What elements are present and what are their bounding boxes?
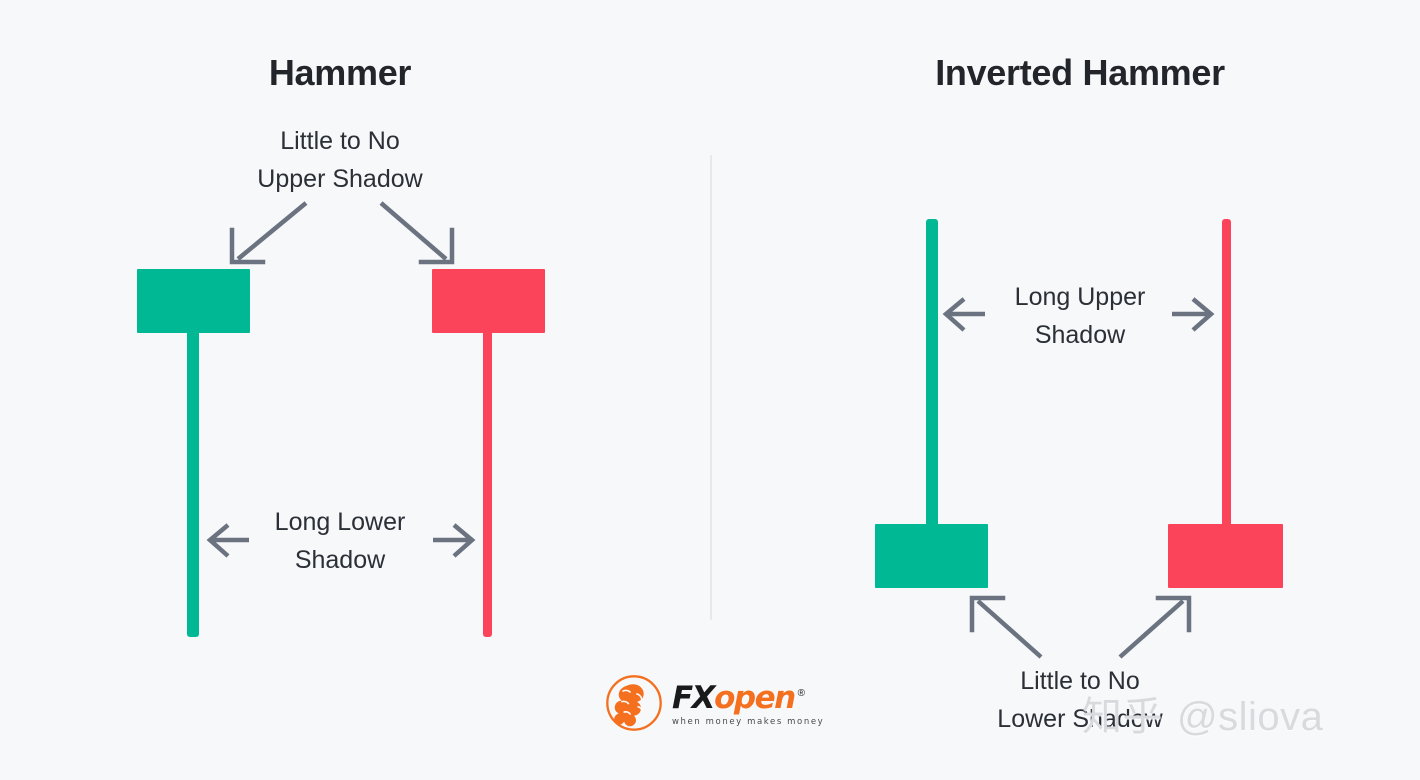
diagram-canvas: Hammer Inverted Hammer Little to No Uppe… (0, 0, 1420, 780)
annotation-long-lower-shadow: Long Lower Shadow (255, 503, 425, 579)
arrow-left-long-upper-shadow (946, 299, 985, 330)
page-title-inverted-hammer: Inverted Hammer (880, 52, 1280, 94)
fxopen-logo: FX open ® when money makes money (605, 672, 820, 734)
fxopen-dragon-emblem-icon (605, 674, 663, 732)
watermark: 知乎@sliova (1082, 684, 1323, 742)
logo-registered-mark: ® (798, 688, 805, 699)
watermark-site: 知乎 (1082, 694, 1163, 740)
candle-lower-shadow-bearish-hammer (483, 320, 492, 637)
annotation-little-to-no-upper-shadow: Little to No Upper Shadow (140, 122, 540, 198)
candle-upper-shadow-bullish-inverted (926, 219, 938, 539)
arrow-left-long-lower-shadow (210, 525, 249, 556)
page-title-hammer: Hammer (140, 52, 540, 94)
candle-body-bullish-inverted (875, 524, 988, 588)
fxopen-wordmark: FX open ® when money makes money (672, 674, 824, 732)
arrow-up-left-to-green-body (972, 598, 1041, 657)
candle-upper-shadow-bearish-inverted (1222, 219, 1231, 539)
arrow-down-right-to-red-body (381, 203, 452, 262)
candle-lower-shadow-bullish-hammer (187, 320, 199, 637)
annotation-long-upper-shadow: Long Upper Shadow (995, 278, 1165, 354)
logo-open-text: open (714, 680, 795, 716)
watermark-handle: @sliova (1177, 695, 1323, 739)
logo-tagline: when money makes money (672, 717, 824, 727)
panel-divider (710, 155, 712, 620)
arrow-up-right-to-red-body (1120, 598, 1189, 657)
arrow-right-long-upper-shadow (1172, 299, 1211, 330)
logo-fx-text: FX (672, 680, 714, 716)
arrow-down-left-to-green-body (232, 203, 306, 262)
candle-body-bearish-inverted (1168, 524, 1283, 588)
arrow-right-long-lower-shadow (433, 525, 472, 556)
